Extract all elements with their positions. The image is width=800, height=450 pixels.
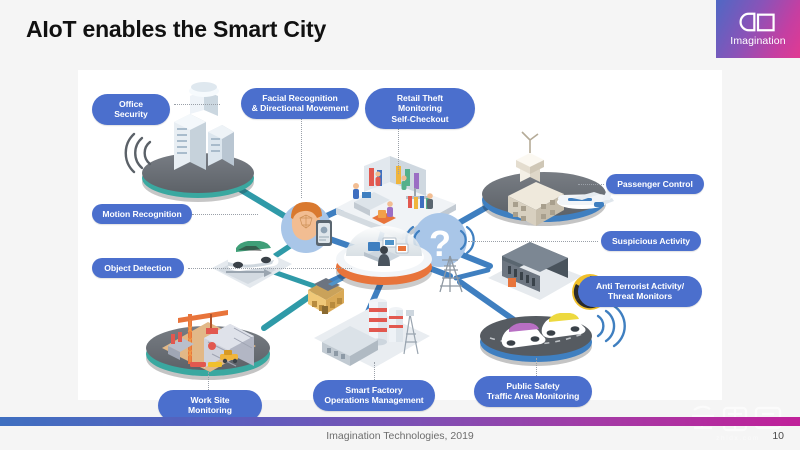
label-anti-terrorist[interactable]: Anti Terrorist Activity/ Threat Monitors	[578, 276, 702, 307]
airport-scene	[482, 132, 614, 226]
circle-square-logo-icon	[736, 11, 780, 33]
brand-gradient-bar	[0, 417, 800, 426]
leader-passenger-control	[578, 184, 604, 185]
label-office-security[interactable]: Office Security	[92, 94, 170, 125]
label-public-safety[interactable]: Public Safety Traffic Area Monitoring	[474, 376, 592, 407]
page-title: AIoT enables the Smart City	[26, 16, 326, 43]
leader-office-security	[174, 104, 220, 105]
autonomous-vehicle-scene	[212, 241, 292, 288]
leader-motion-recognition	[192, 214, 258, 215]
slide: AIoT enables the Smart City Imagination	[0, 0, 800, 450]
label-facial-recognition[interactable]: Facial Recognition & Directional Movemen…	[241, 88, 359, 119]
leader-public-safety	[536, 358, 537, 376]
label-object-detection[interactable]: Object Detection	[92, 258, 184, 278]
label-smart-factory[interactable]: Smart Factory Operations Management	[313, 380, 435, 411]
leader-suspicious-activity	[468, 241, 598, 242]
leader-object-detection	[188, 268, 352, 269]
construction-site-scene	[146, 310, 270, 380]
imagination-logo: Imagination	[716, 0, 800, 58]
page-number: 10	[772, 430, 784, 442]
leader-work-site	[208, 372, 209, 390]
diagram-panel: ?	[78, 70, 722, 400]
logo-wordmark: Imagination	[730, 36, 785, 47]
label-suspicious-activity[interactable]: Suspicious Activity	[601, 231, 701, 251]
leader-facial-recognition	[301, 114, 302, 198]
facial-recognition-scene	[281, 202, 332, 253]
svg-text:?: ?	[429, 223, 451, 264]
footer-credit: Imagination Technologies, 2019	[0, 430, 800, 442]
label-motion-recognition[interactable]: Motion Recognition	[92, 204, 192, 224]
label-passenger-control[interactable]: Passenger Control	[606, 174, 704, 194]
label-retail-theft[interactable]: Retail Theft Monitoring Self-Checkout	[365, 88, 475, 129]
